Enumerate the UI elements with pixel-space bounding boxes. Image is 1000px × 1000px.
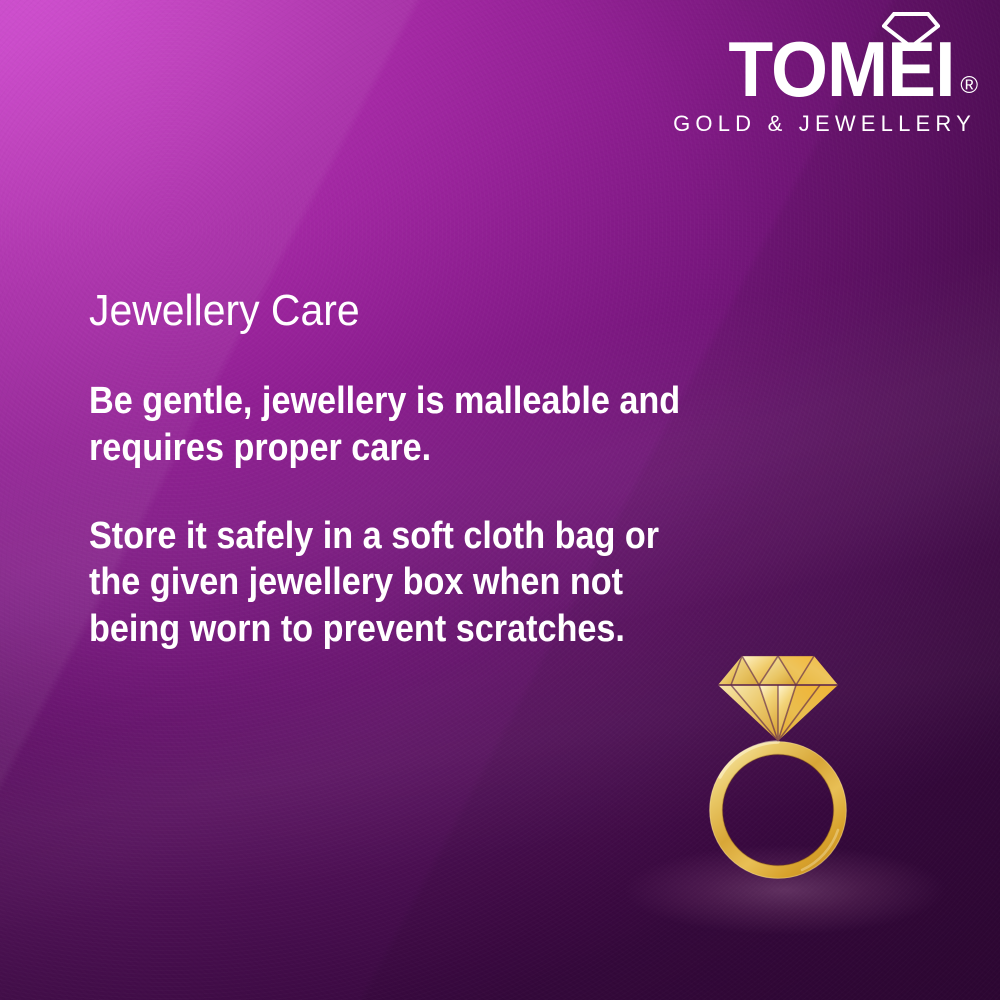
care-paragraph-two: Store it safely in a soft cloth bag or t… (89, 513, 710, 652)
ring-artwork (690, 640, 870, 900)
ring-band-icon (710, 742, 847, 879)
brand-logo: TOMEI ® GOLD & JEWELLERY (648, 8, 978, 137)
page-title: Jewellery Care (89, 288, 666, 334)
diamond-ring-illustration (690, 640, 870, 900)
copy-block: Jewellery Care Be gentle, jewellery is m… (89, 288, 709, 652)
care-paragraph-one: Be gentle, jewellery is malleable and re… (89, 378, 710, 471)
brand-tagline: GOLD & JEWELLERY (648, 111, 978, 137)
gem-diamond-icon (718, 656, 838, 741)
registered-trademark-icon: ® (960, 74, 978, 98)
brand-wordmark: TOMEI (728, 38, 954, 102)
poster-canvas: TOMEI ® GOLD & JEWELLERY Jewellery Care … (0, 0, 1000, 1000)
brand-wordmark-row: TOMEI ® (648, 8, 978, 102)
